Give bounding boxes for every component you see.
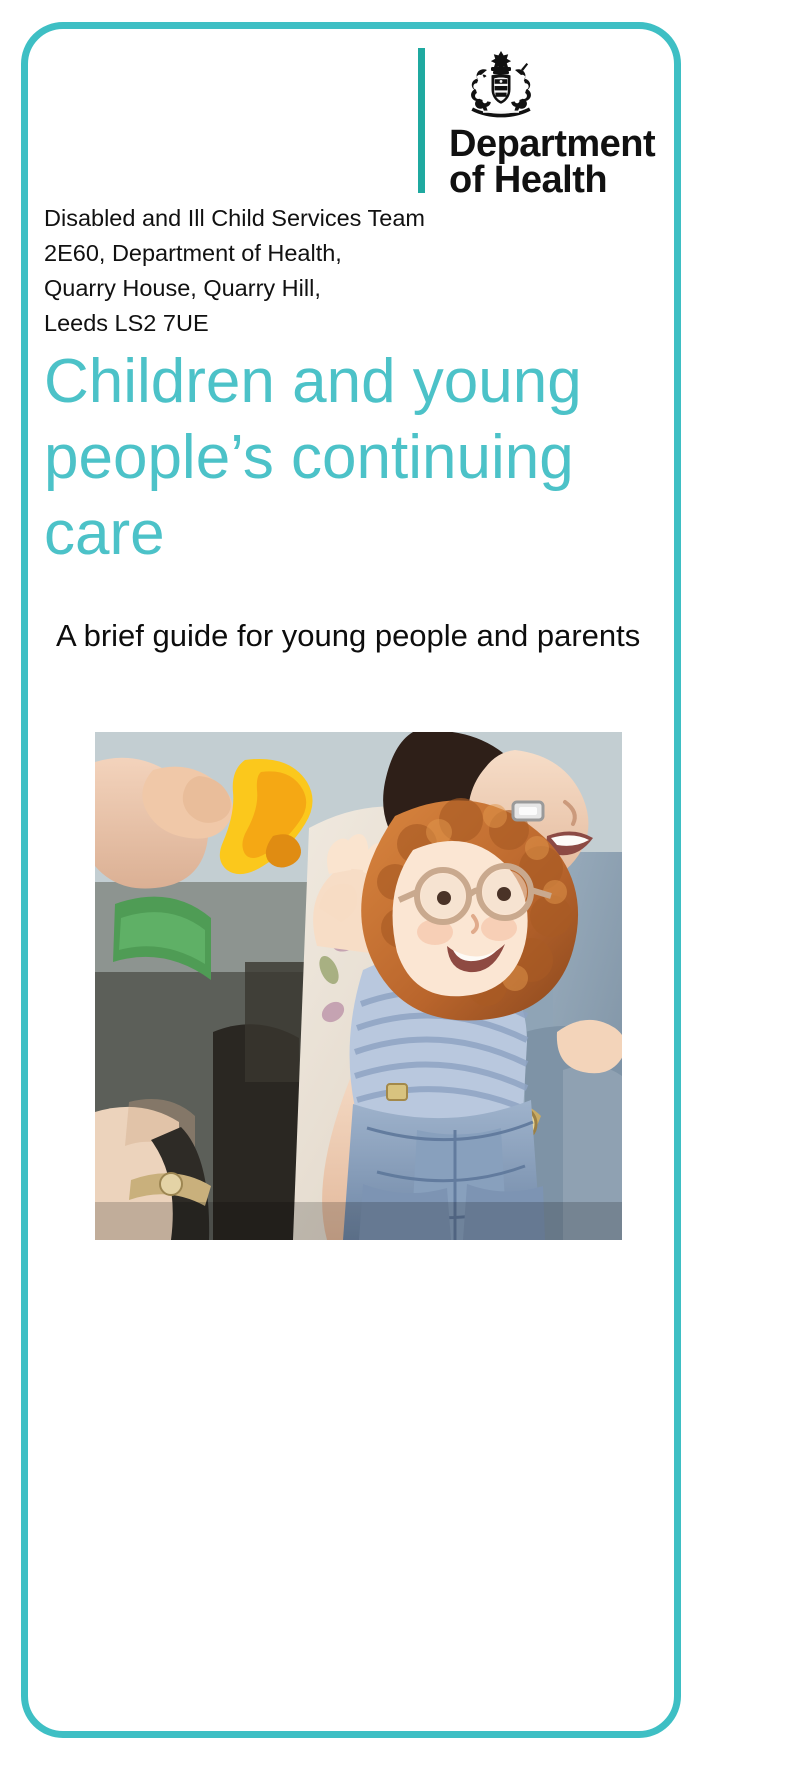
royal-coat-of-arms-icon <box>449 48 553 122</box>
page-subtitle: A brief guide for young people and paren… <box>56 614 676 657</box>
brochure-cover: Department of Health Disabled and Ill Ch… <box>0 0 806 1789</box>
logo-body: Department of Health <box>449 48 655 198</box>
sender-address: Disabled and Ill Child Services Team 2E6… <box>44 201 564 341</box>
department-of-health-logo: Department of Health <box>418 48 676 200</box>
cover-photograph <box>95 732 622 1240</box>
photo-illustration <box>95 732 622 1240</box>
logo-wordmark: Department of Health <box>449 126 655 198</box>
logo-accent-bar <box>418 48 425 193</box>
page-title: Children and young people’s continuing c… <box>44 344 664 572</box>
